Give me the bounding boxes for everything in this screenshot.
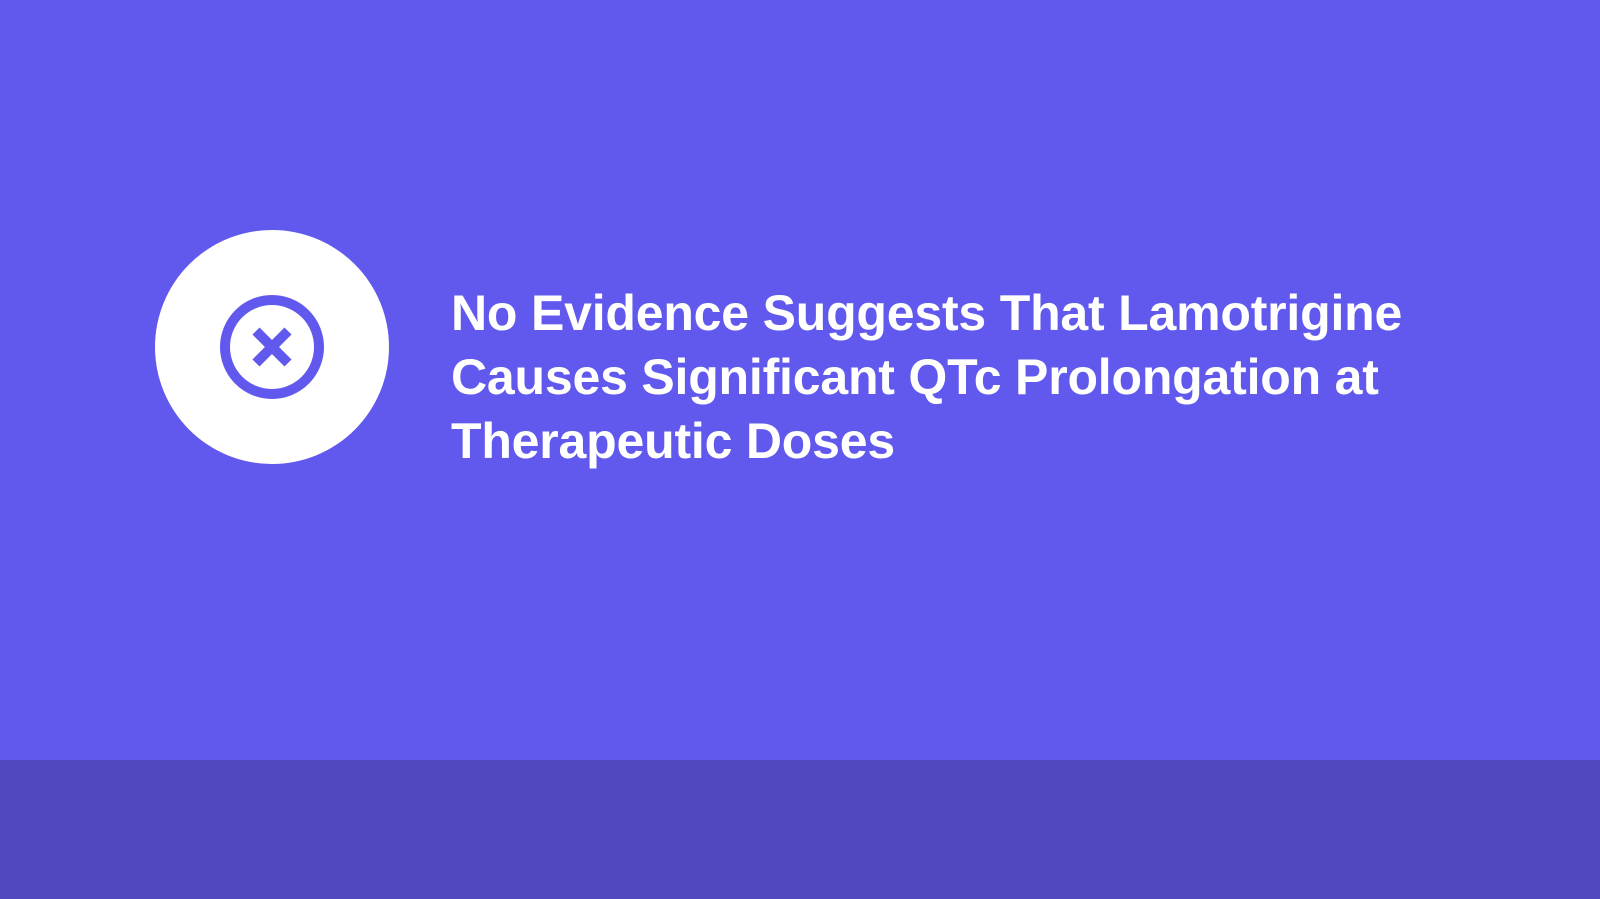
- title-line-3: Therapeutic Doses: [451, 409, 1471, 473]
- slide-footer: Restrepo, J. A., MacLean, R. L., Celano,…: [0, 760, 1600, 899]
- slide-canvas: No Evidence Suggests That Lamotrigine Ca…: [0, 0, 1600, 899]
- slide-body: No Evidence Suggests That Lamotrigine Ca…: [0, 0, 1600, 760]
- slide-title: No Evidence Suggests That Lamotrigine Ca…: [451, 281, 1471, 473]
- title-line-1: No Evidence Suggests That Lamotrigine: [451, 281, 1471, 345]
- title-line-2: Causes Significant QTc Prolongation at: [451, 345, 1471, 409]
- circle-x-icon: [155, 230, 389, 464]
